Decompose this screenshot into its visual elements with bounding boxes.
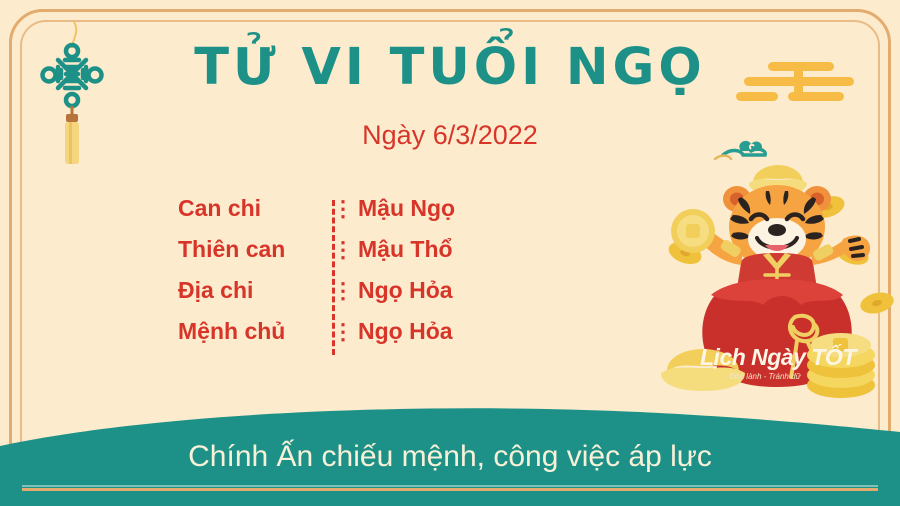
table-row-value: Ngọ Hỏa [358,277,508,304]
footer-rule-lines [22,485,878,490]
big-coin [671,209,715,253]
tiger-mascot-illustration [645,135,900,420]
footer-message: Chính Ấn chiếu mệnh, công việc áp lực [0,442,900,472]
page-date: Ngày 6/3/2022 [0,122,900,149]
footer-banner: Chính Ấn chiếu mệnh, công việc áp lực [0,406,900,506]
table-row-label: Thiên can [178,236,328,263]
table-row: Thiên can ⋮ Mậu Thổ [178,236,508,277]
horoscope-info-table: Can chi ⋮ Mậu Ngọ Thiên can ⋮ Mậu Thổ Đị… [178,195,508,359]
table-row-label: Địa chi [178,277,328,304]
coin-stack [807,333,875,398]
footer-rule-gold [22,488,878,491]
table-row-label: Can chi [178,195,328,222]
table-row-value: Mậu Thổ [358,236,508,263]
table-row-value: Mậu Ngọ [358,195,508,222]
table-row-label: Mệnh chủ [178,318,328,345]
footer-rule-light [22,485,878,487]
table-row: Can chi ⋮ Mậu Ngọ [178,195,508,236]
page-title: TỬ VI TUỔI NGỌ [0,42,900,93]
floating-coin [858,289,896,317]
table-dashed-divider [332,200,335,355]
table-row: Địa chi ⋮ Ngọ Hỏa [178,277,508,318]
horoscope-card: Lịch Ngày TỐT Đón lành - Tránh dữ TỬ VI … [0,0,900,506]
table-row: Mệnh chủ ⋮ Ngọ Hỏa [178,318,508,359]
table-row-value: Ngọ Hỏa [358,318,508,345]
